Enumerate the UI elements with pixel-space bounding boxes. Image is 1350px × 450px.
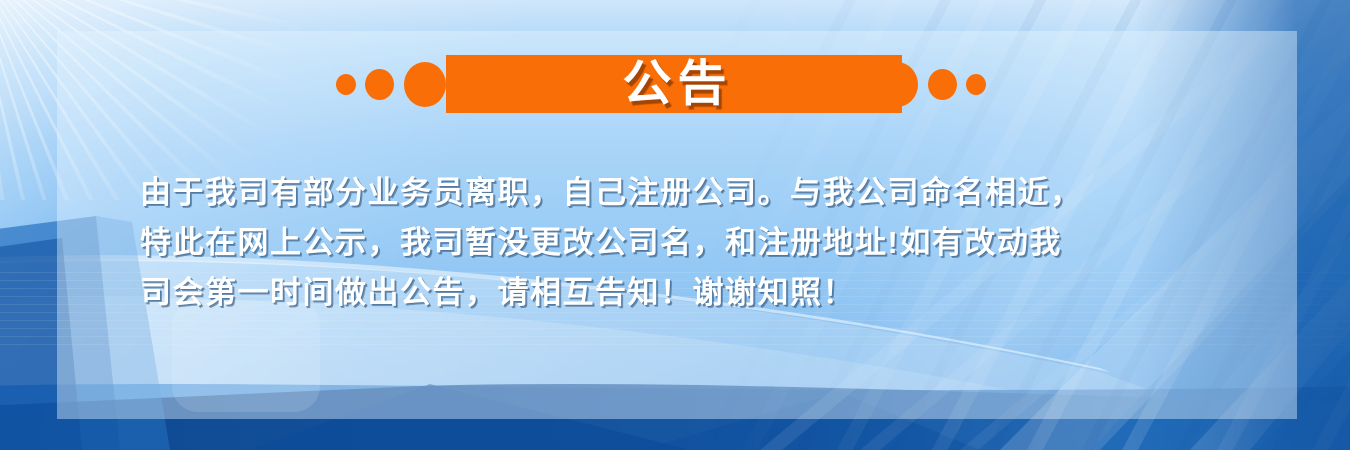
announcement-banner: 公告 由于我司有部分业务员离职，自己注册公司。与我公司命名相近， 特此在网上公示…: [0, 0, 1350, 450]
page-title: 公告: [470, 55, 885, 113]
announcement-line: 由于我司有部分业务员离职，自己注册公司。与我公司命名相近，: [140, 168, 1230, 218]
small-dot-icon: [336, 74, 356, 95]
medium-dot-icon: [365, 69, 394, 100]
large-dot-icon: [876, 62, 918, 107]
title-decoration-right: [876, 55, 986, 113]
announcement-line: 司会第一时间做出公告，请相互告知！谢谢知照！: [140, 268, 1230, 318]
large-dot-icon: [404, 62, 446, 107]
medium-dot-icon: [928, 69, 957, 100]
small-dot-icon: [966, 74, 986, 95]
title-decoration-left: [336, 55, 446, 113]
announcement-text: 由于我司有部分业务员离职，自己注册公司。与我公司命名相近， 特此在网上公示，我司…: [140, 168, 1230, 318]
title-bar: 公告: [0, 55, 1350, 113]
announcement-line: 特此在网上公示，我司暂没更改公司名，和注册地址!如有改动我: [140, 218, 1230, 268]
